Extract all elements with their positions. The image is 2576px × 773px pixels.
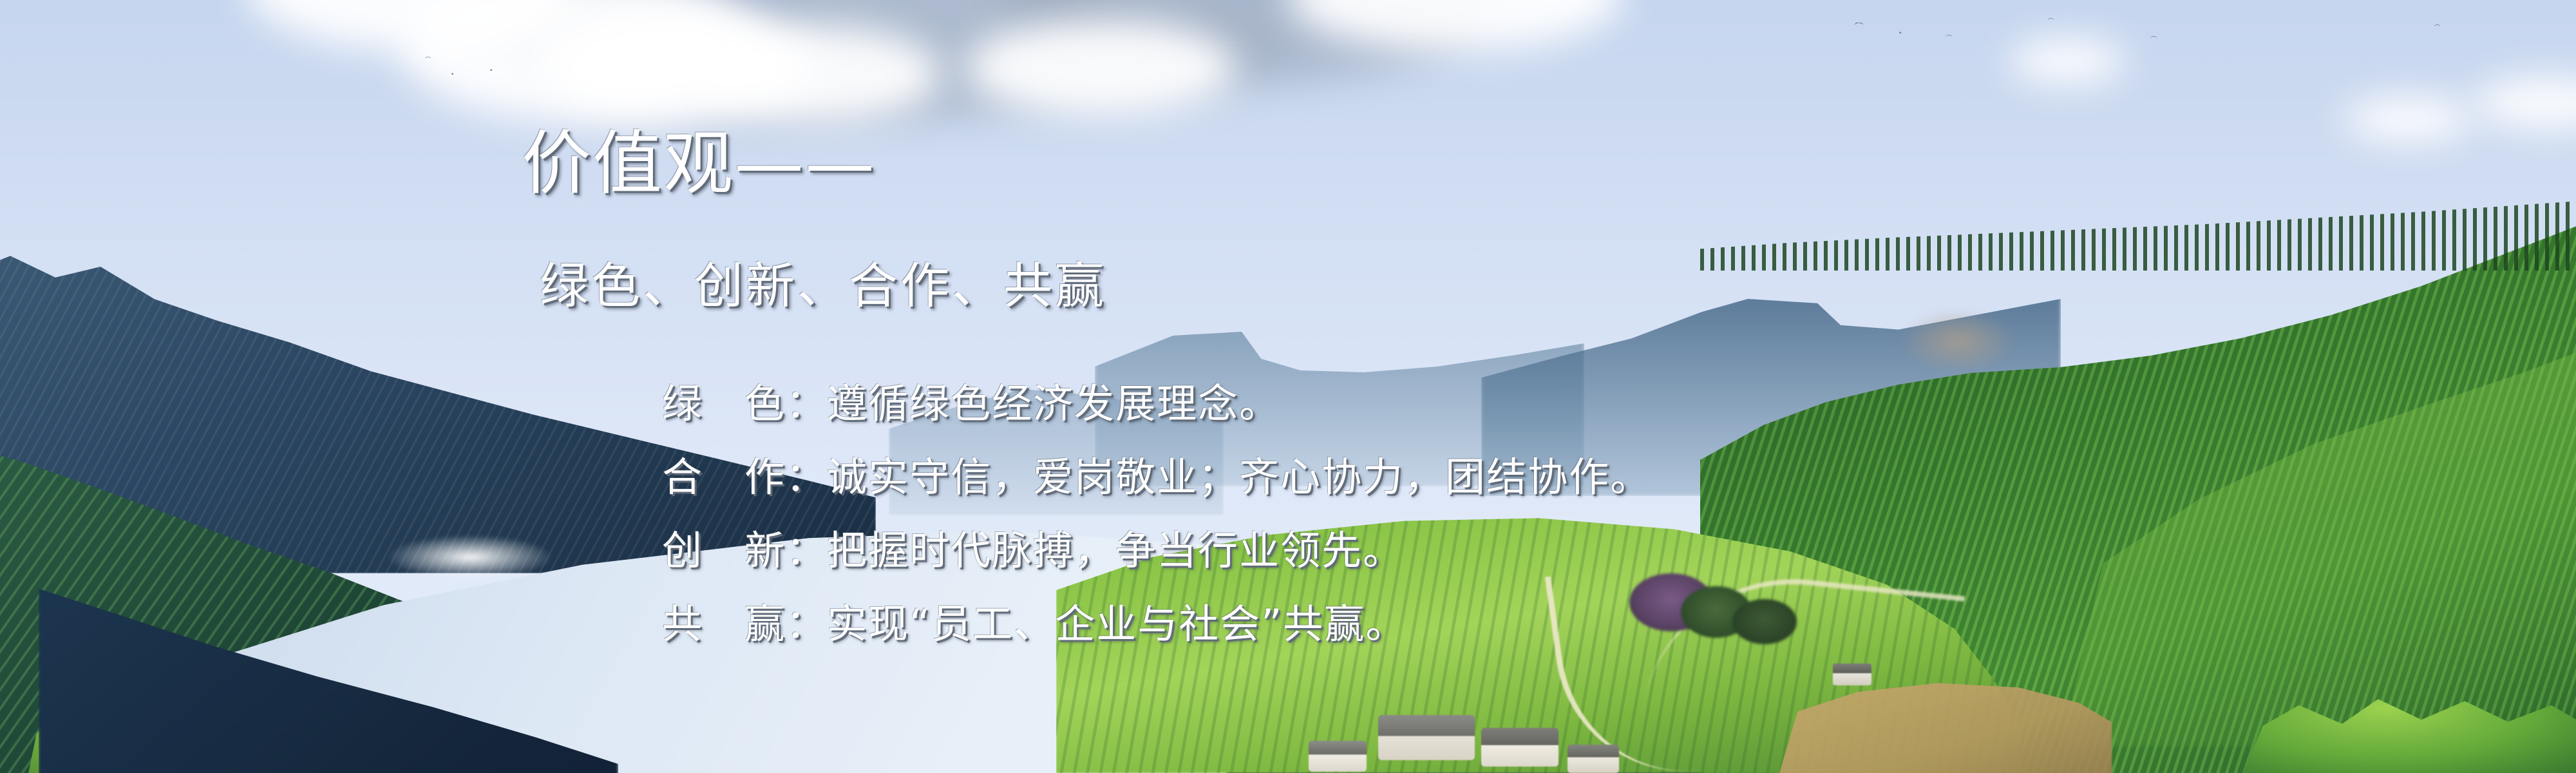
banner-subtitle: 绿色、创新、合作、共赢 [540,260,1106,312]
banner-title: 价值观—— [522,128,876,200]
value-label-cooperation: 合 作： [662,453,827,501]
value-line-green: 绿 色：遵循绿色经济发展理念。 [662,384,1280,424]
value-label-winwin: 共 赢： [662,600,827,647]
value-text-cooperation: 诚实守信，爱岗敬业；齐心协力，团结协作。 [827,453,1651,501]
value-line-winwin: 共 赢：实现“员工、企业与社会”共赢。 [662,604,1406,644]
value-line-cooperation: 合 作：诚实守信，爱岗敬业；齐心协力，团结协作。 [662,457,1651,497]
value-text-innovation: 把握时代脉搏，争当行业领先。 [827,527,1404,574]
values-banner: ⌒ • ⌒ ⌒ ⌒ ⌒ • • ⌒ [0,0,2576,773]
value-text-green: 遵循绿色经济发展理念。 [827,380,1280,427]
value-label-innovation: 创 新： [662,527,827,574]
value-label-green: 绿 色： [662,380,827,427]
value-text-winwin: 实现“员工、企业与社会”共赢。 [827,600,1406,647]
value-line-innovation: 创 新：把握时代脉搏，争当行业领先。 [662,531,1404,571]
